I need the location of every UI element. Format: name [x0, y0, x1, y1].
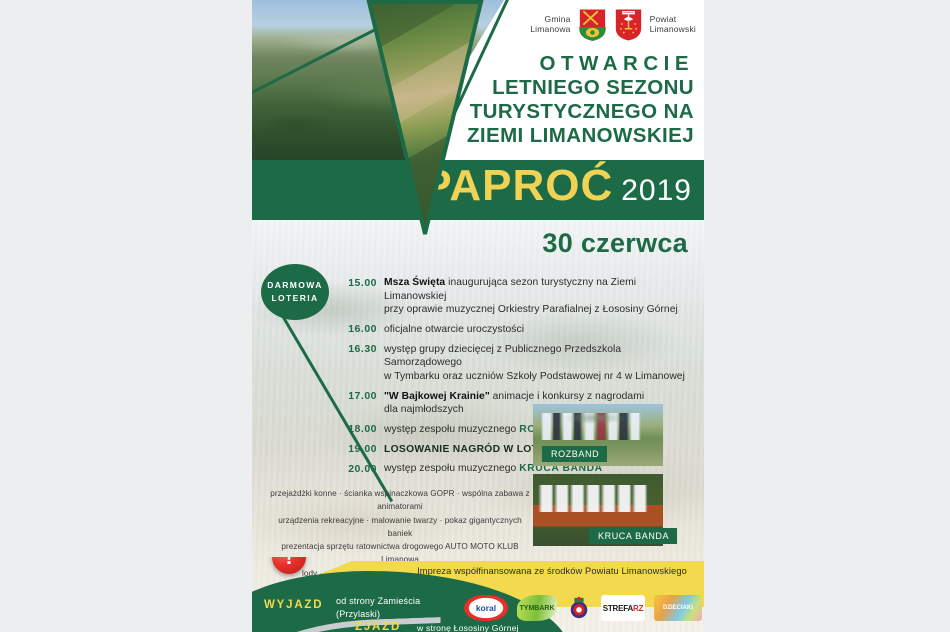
schedule-desc: występ grupy dziecięcej z Publicznego Pr… [384, 343, 690, 384]
triangle-photo-badge [365, 0, 485, 250]
schedule-text: występ zespołu muzycznego [384, 463, 519, 474]
powiat-limanowski-coat-of-arms-icon [614, 8, 643, 42]
lottery-badge-line2: LOTERIA [271, 292, 318, 305]
gmina-limanowa-coat-of-arms-icon [578, 8, 607, 42]
exit-label: WYJAZD [264, 599, 323, 611]
schedule-desc: Msza Święta inaugurująca sezon turystycz… [384, 276, 690, 317]
band-photo-caption-rozband: ROZBAND [542, 446, 607, 462]
sponsor-logo-crest [566, 595, 592, 621]
crest-powiat-line2: Limanowski [650, 25, 696, 35]
attraction-line: przejażdżki konne · ścianka wspinaczkowa… [266, 487, 534, 514]
financing-note: Impreza współfinansowana ze środków Powi… [402, 566, 702, 576]
lottery-badge-line1: DARMOWA [267, 279, 323, 292]
poster-footer: Impreza współfinansowana ze środków Powi… [252, 557, 704, 632]
crest-label-powiat: Powiat Limanowski [650, 15, 696, 35]
crest-gmina-line2: Limanowa [530, 25, 570, 35]
schedule-time: 15.00 [338, 276, 384, 289]
schedule-time: 16.00 [338, 323, 384, 336]
event-poster: Gmina Limanowa [252, 0, 704, 632]
triangle-outline-icon [365, 0, 485, 236]
schedule-lead: "W Bajkowej Krainie" [384, 391, 490, 402]
exit-description-line2: (Przylaski) [336, 608, 456, 621]
schedule-text2: przy oprawie muzycznej Orkiestry Parafia… [384, 304, 678, 315]
warning-exclamation-icon: ! [272, 557, 306, 574]
schedule-row: 16.00 oficjalne otwarcie uroczystości [338, 323, 690, 337]
band-photo-caption-kruca-banda: KRUCA BANDA [589, 528, 677, 544]
schedule-row: 15.00 Msza Święta inaugurująca sezon tur… [338, 276, 690, 317]
schedule-time: 18.00 [338, 423, 384, 436]
sponsor-kids-text: DZIECIAKI [663, 605, 693, 611]
schedule-lead: Msza Święta [384, 277, 445, 288]
exit-description: od strony Zamieścia (Przylaski) [336, 595, 456, 621]
schedule-text: występ zespołu muzycznego [384, 424, 519, 435]
schedule-row: 16.30 występ grupy dziecięcej z Publiczn… [338, 343, 690, 384]
schedule-time: 16.30 [338, 343, 384, 356]
schedule-text2: dla najmłodszych [384, 404, 464, 415]
sponsor-strefa-text: STREFA [603, 604, 633, 613]
crest-label-gmina: Gmina Limanowa [530, 15, 570, 35]
exit-description-line1: od strony Zamieścia [336, 595, 456, 608]
sponsor-logo-tymbark: TYMBARK [517, 595, 557, 621]
event-date: 30 czerwca [542, 228, 688, 259]
schedule-text: oficjalne otwarcie uroczystości [384, 324, 524, 335]
schedule-text2: w Tymbarku oraz uczniów Szkoły Podstawow… [384, 371, 685, 382]
sponsor-crest-icon [567, 596, 591, 620]
sponsor-logo-koral: koral [464, 595, 508, 621]
schedule-text: animacje i konkursy z nagrodami [490, 391, 644, 402]
descent-label: ZJAZD [355, 621, 401, 632]
schedule-time: 20.00 [338, 462, 384, 475]
sponsor-logo-kids: DZIECIAKI [654, 595, 702, 621]
crest-row: Gmina Limanowa [530, 8, 696, 42]
event-year: 2019 [621, 176, 692, 206]
screenshot-canvas: Gmina Limanowa [0, 0, 950, 632]
sponsor-logo-strefa-rz: STREFARZ [601, 595, 645, 621]
schedule-time: 19.00 [338, 443, 384, 456]
schedule-desc: oficjalne otwarcie uroczystości [384, 323, 524, 337]
sponsor-logo-row: koral TYMBARK STREFARZ DZIECIAKI [464, 591, 702, 625]
schedule-text: występ grupy dziecięcej z Publicznego Pr… [384, 344, 621, 369]
schedule-time: 17.00 [338, 390, 384, 403]
attraction-line: urządzenia rekreacyjne · malowanie twarz… [266, 514, 534, 541]
free-lottery-badge: DARMOWA LOTERIA [261, 264, 329, 320]
